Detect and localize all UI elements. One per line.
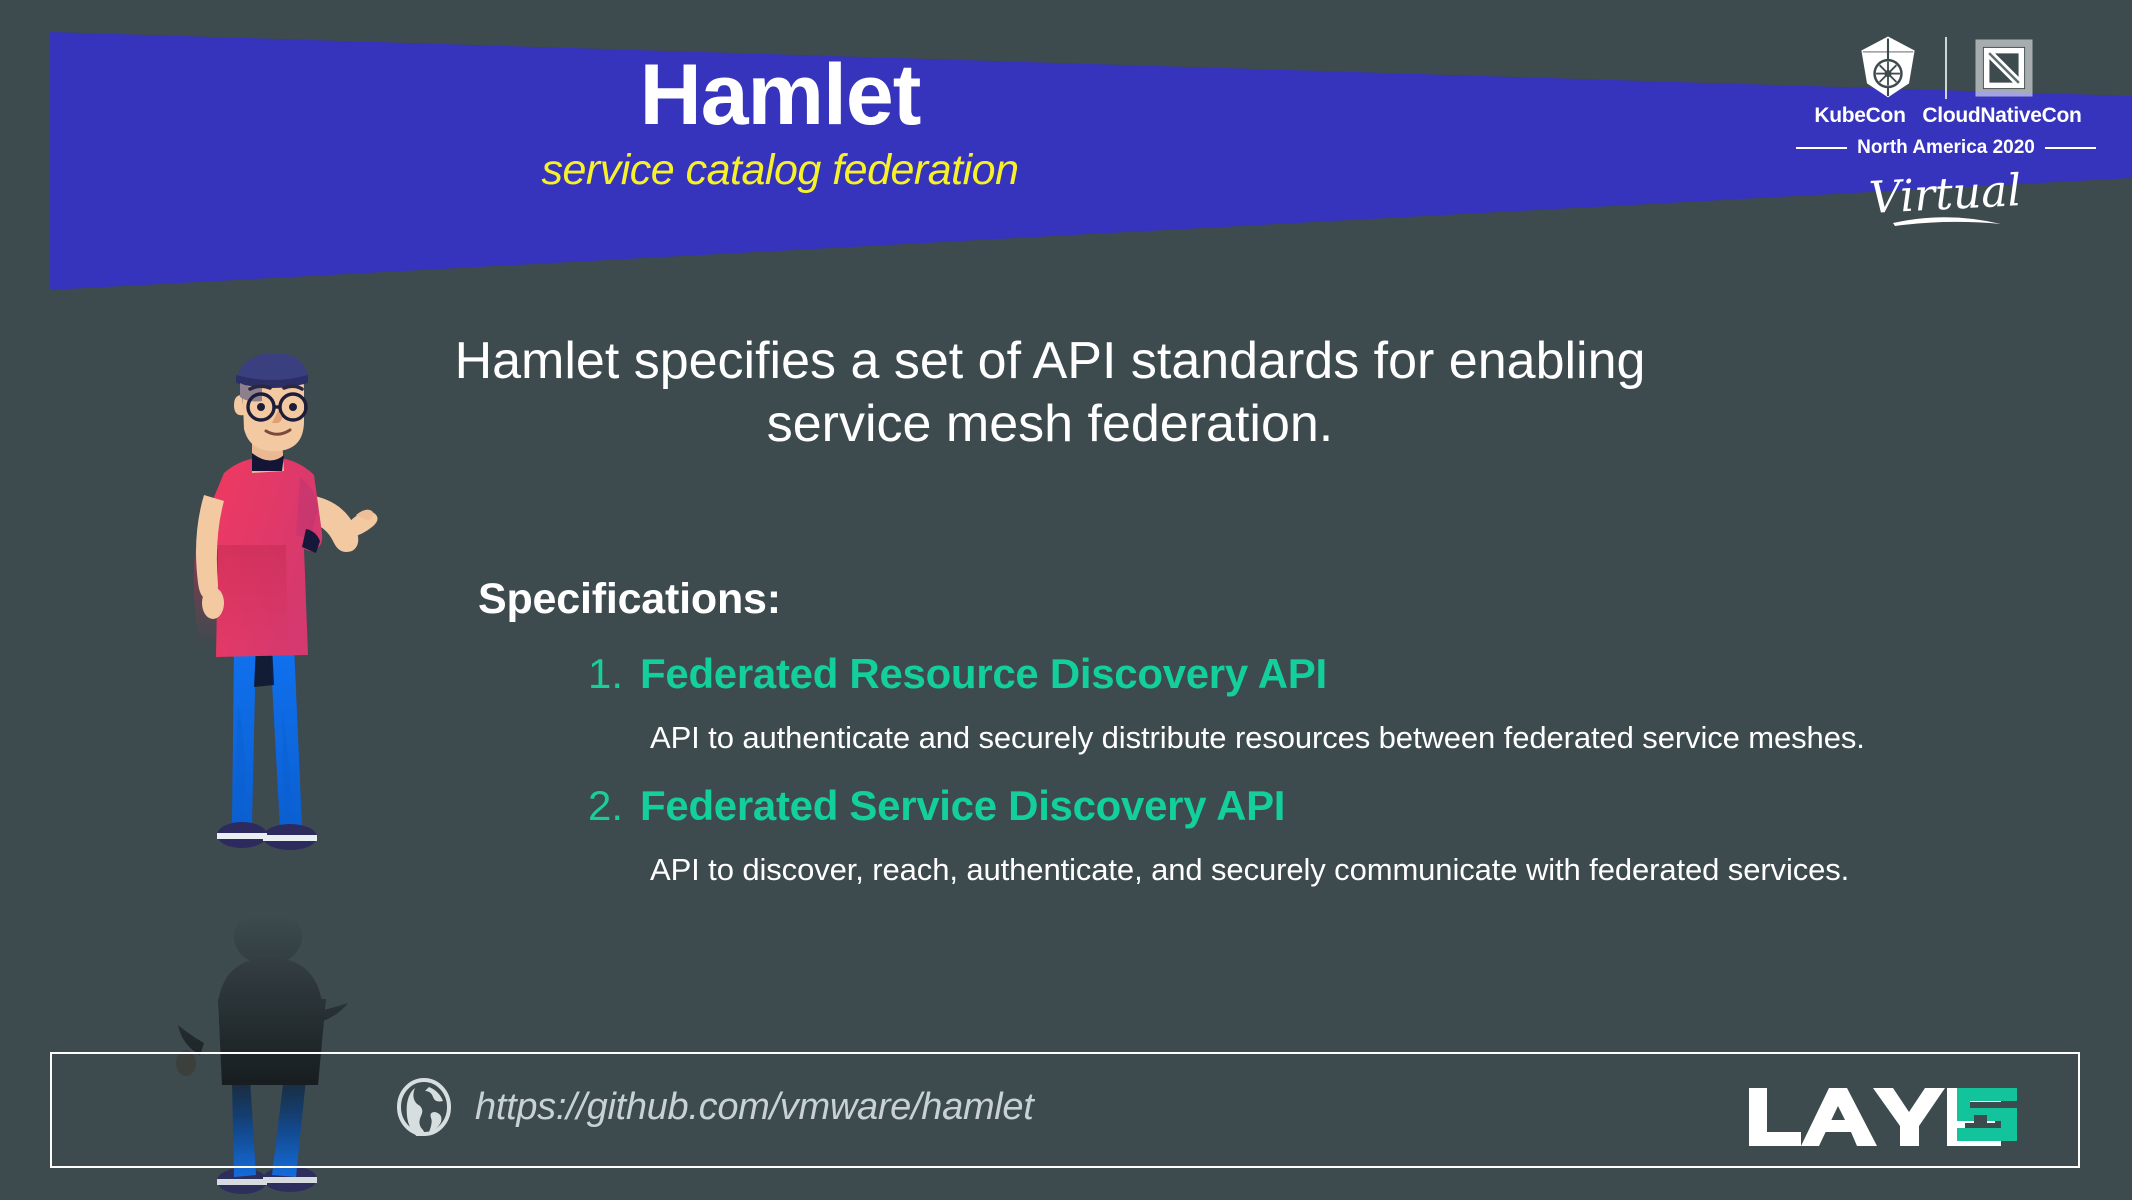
spec-description: API to discover, reach, authenticate, an… (650, 852, 2038, 888)
specifications-heading: Specifications: (478, 575, 2038, 624)
kubernetes-helm-icon (1845, 33, 1931, 103)
specifications-section: Specifications: 1. Federated Resource Di… (478, 575, 2038, 888)
globe-icon (395, 1078, 453, 1136)
repo-url[interactable]: https://github.com/vmware/hamlet (475, 1086, 1034, 1129)
kubecon-cloudnativecon-logo: KubeCon CloudNativeCon North America 202… (1796, 30, 2096, 240)
spec-title: Federated Resource Discovery API (640, 650, 1327, 698)
spec-item-1: 1. Federated Resource Discovery API API … (478, 650, 2038, 756)
conference-marks (1796, 30, 2096, 106)
rule-right (2045, 147, 2096, 149)
spec-item-2: 2. Federated Service Discovery API API t… (478, 782, 2038, 888)
lede-text: Hamlet specifies a set of API standards … (430, 330, 1670, 457)
spec-number: 2. (588, 782, 623, 830)
logo-divider (1945, 37, 1947, 99)
spec-title: Federated Service Discovery API (640, 782, 1285, 830)
conference-names: KubeCon CloudNativeCon (1796, 104, 2096, 128)
conference-location-row: North America 2020 (1796, 137, 2096, 159)
waving-person-illustration (160, 345, 390, 905)
rule-left (1796, 147, 1847, 149)
cncf-square-icon (1961, 37, 2047, 99)
spec-description: API to authenticate and securely distrib… (650, 720, 2038, 756)
layer5-logo: LAYER (1745, 1082, 2025, 1154)
cloudnativecon-label: CloudNativeCon (1916, 104, 2088, 128)
spec-title-row: 2. Federated Service Discovery API (588, 782, 2038, 830)
svg-text:Virtual: Virtual (1868, 165, 2023, 224)
virtual-wordmark: Virtual (1796, 163, 2096, 240)
conference-location: North America 2020 (1857, 137, 2035, 159)
spec-title-row: 1. Federated Resource Discovery API (588, 650, 2038, 698)
spec-number: 1. (588, 650, 623, 698)
slide-canvas: Hamlet service catalog federation (0, 0, 2132, 1200)
footer-link[interactable]: https://github.com/vmware/hamlet (395, 1078, 1034, 1136)
kubecon-label: KubeCon (1804, 104, 1916, 128)
